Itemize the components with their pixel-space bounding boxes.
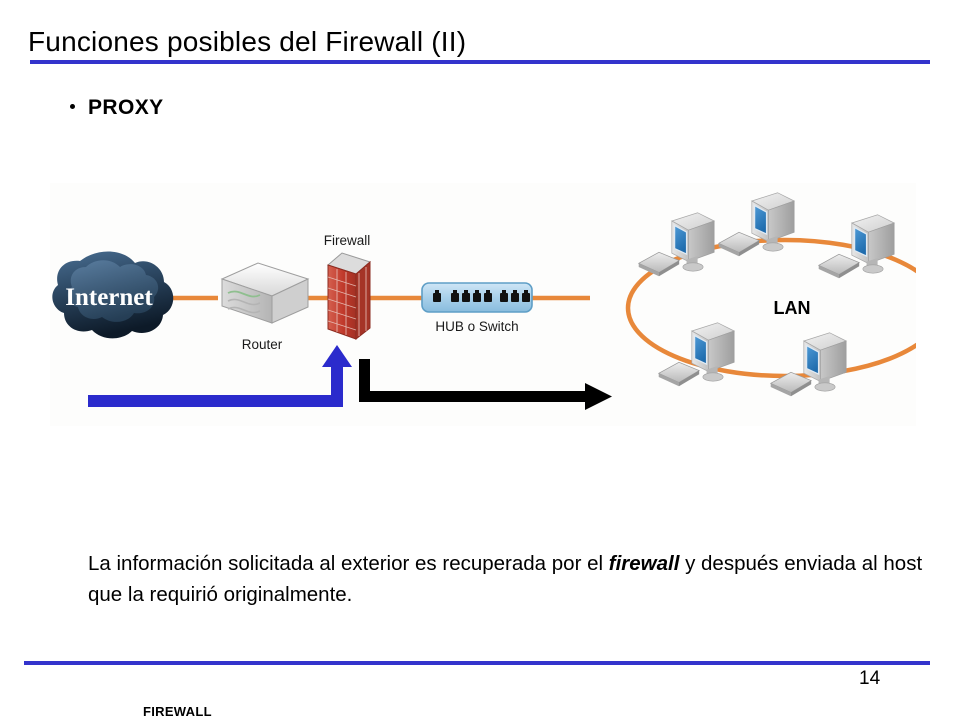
firewall-label: Firewall <box>324 233 371 248</box>
router-label: Router <box>242 337 283 352</box>
footer-divider <box>24 661 930 665</box>
page-number: 14 <box>859 668 880 690</box>
footer-label: FIREWALL <box>143 704 212 719</box>
lan-host <box>819 215 894 278</box>
title-divider <box>30 60 930 64</box>
response-arrow <box>359 359 612 410</box>
switch-icon <box>422 283 532 312</box>
body-text-emphasis: firewall <box>609 552 680 575</box>
brick-wall-icon <box>328 253 370 339</box>
network-diagram: Internet Router Firewall <box>50 183 916 426</box>
page-title: Funciones posibles del Firewall (II) <box>28 26 466 58</box>
request-arrow <box>88 345 352 407</box>
lan-host <box>771 333 846 396</box>
bullet-item-label: PROXY <box>88 96 164 120</box>
router-icon <box>222 263 308 323</box>
lan-label: LAN <box>774 298 811 318</box>
cloud-label: Internet <box>65 284 153 311</box>
lan-host <box>639 213 714 276</box>
bullet-marker-icon <box>70 104 75 109</box>
cloud-icon: Internet <box>52 251 173 338</box>
body-text-before: La información solicitada al exterior es… <box>88 552 609 575</box>
bullet-item-proxy: PROXY <box>70 96 164 120</box>
switch-label: HUB o Switch <box>435 319 518 334</box>
body-paragraph: La información solicitada al exterior es… <box>88 548 948 610</box>
lan-host <box>719 193 794 256</box>
